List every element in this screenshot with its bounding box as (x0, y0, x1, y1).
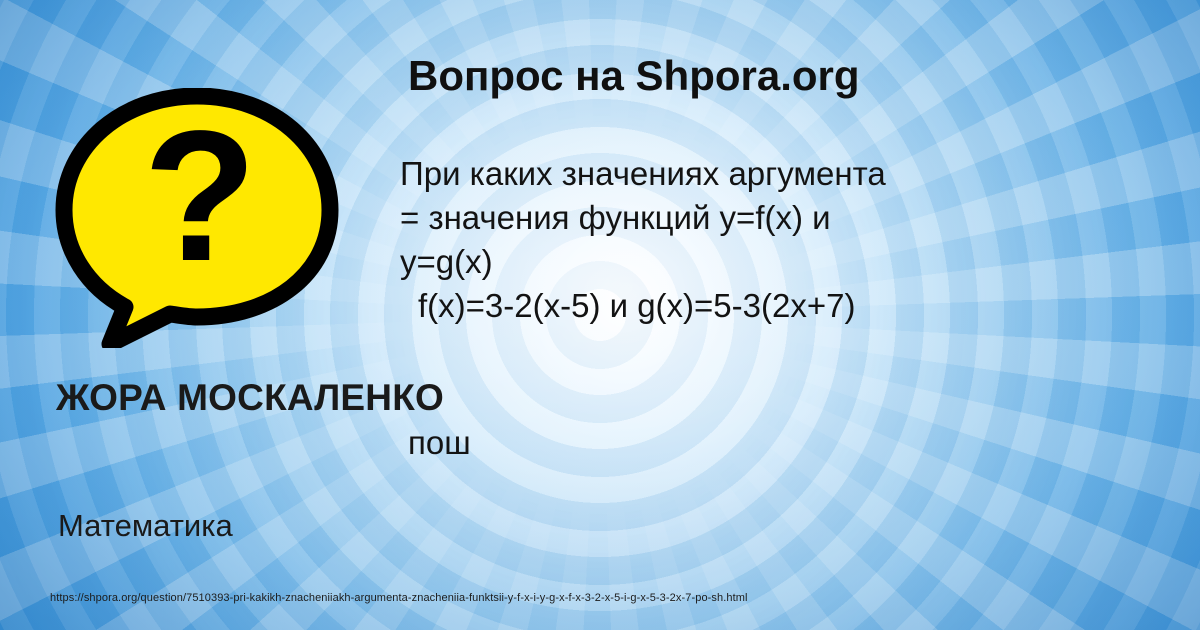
left-column: ? ЖОРА МОСКАЛЕНКО Математика (0, 0, 390, 630)
question-line-1: При каких значениях аргумента (400, 152, 1200, 196)
question-text: При каких значениях аргумента = значения… (400, 152, 1200, 328)
question-line-4: f(x)=3-2(x-5) и g(x)=5-3(2x+7) (400, 284, 1200, 328)
question-text-tail: пош (408, 424, 471, 462)
question-line-2: = значения функций y=f(x) и (400, 196, 1200, 240)
svg-text:?: ? (143, 93, 257, 300)
page-title: Вопрос на Shpora.org (408, 52, 860, 100)
share-card: ? ЖОРА МОСКАЛЕНКО Математика Вопрос на S… (0, 0, 1200, 630)
source-url[interactable]: https://shpora.org/question/7510393-pri-… (50, 592, 748, 604)
author-name: ЖОРА МОСКАЛЕНКО (56, 378, 526, 418)
speech-bubble-question-icon: ? (52, 88, 342, 348)
question-category: Математика (58, 508, 233, 544)
question-line-3: y=g(x) (400, 240, 1200, 284)
